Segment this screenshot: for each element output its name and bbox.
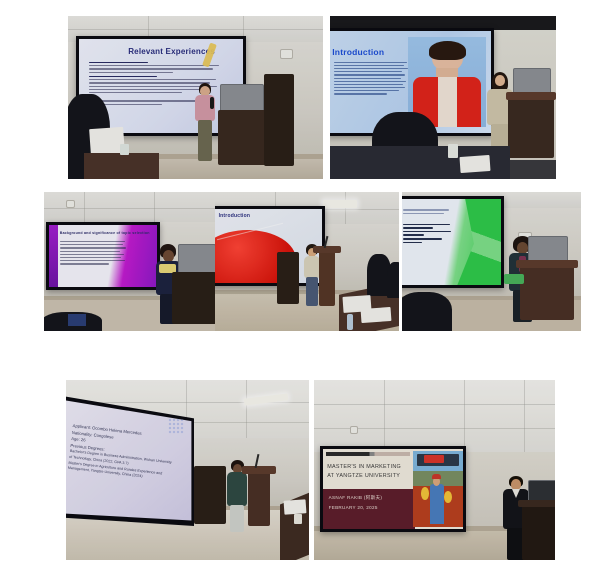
photo-1: Relevant Experiences — [68, 16, 323, 179]
photo-2-shade — [330, 16, 556, 179]
photo-6-shade — [66, 380, 309, 560]
photo-6: Self- introduction Applicant: Ocombo Hel… — [66, 380, 309, 560]
photo-collage: Relevant Experiences — [0, 0, 611, 574]
photo-4: Introduction — [215, 192, 399, 331]
photo-7: MASTER'S IN MARKETING AT YANGTZE UNIVERS… — [314, 380, 555, 560]
photo-7-shade — [314, 380, 555, 560]
photo-3: Background and significance of topic sel… — [44, 192, 215, 331]
photo-2: Introduction — [330, 16, 556, 179]
photo-4-shade — [215, 192, 399, 331]
photo-3-shade — [44, 192, 215, 331]
photo-1-shade — [68, 16, 323, 179]
photo-5-shade — [402, 192, 581, 331]
photo-5 — [402, 192, 581, 331]
